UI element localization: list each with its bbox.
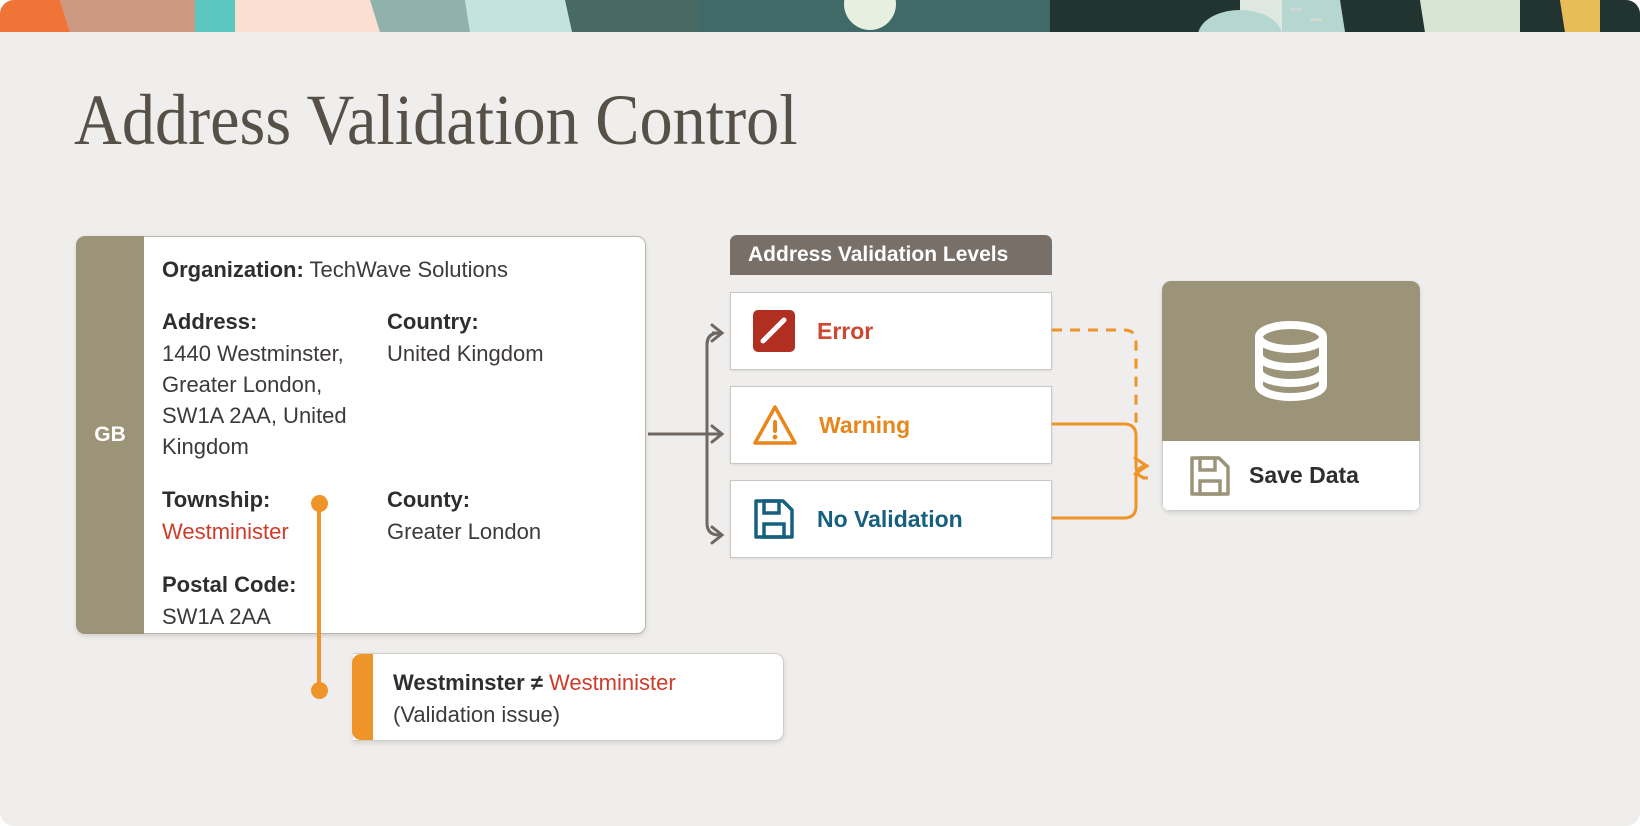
postal-code-field: Postal Code: SW1A 2AA [162,569,623,632]
validation-level-warning[interactable]: Warning [730,386,1052,464]
callout-actual: Westminister [549,670,676,695]
annotation-dot-bottom [311,682,328,699]
township-value: Westminister [162,516,387,547]
address-field: Address: 1440 Westminster, Greater Londo… [162,306,387,462]
validation-level-label: Error [817,318,873,345]
save-data-card[interactable]: Save Data [1162,281,1420,511]
postal-code-value: SW1A 2AA [162,601,623,632]
callout-accent-bar [352,654,373,740]
postal-code-label: Postal Code: [162,569,623,601]
township-label: Township: [162,484,387,516]
township-field: Township: Westminister [162,484,387,547]
address-card-body: Organization: TechWave Solutions Address… [144,236,646,634]
annotation-dot-top [311,495,328,512]
country-label: Country: [387,306,623,338]
county-value: Greater London [387,516,623,547]
page-title: Address Validation Control [74,72,798,168]
address-value: 1440 Westminster, Greater London, SW1A 2… [162,338,387,462]
organization-label: Organization: [162,257,304,282]
country-value: United Kingdom [387,338,623,369]
annotation-line [317,503,321,691]
validation-level-error[interactable]: Error [730,292,1052,370]
save-card-footer[interactable]: Save Data [1162,441,1420,511]
callout-expected: Westminster [393,670,525,695]
floppy-disk-icon [753,498,795,540]
callout-text: Westminster ≠ Westminister (Validation i… [373,654,676,740]
county-label: County: [387,484,623,516]
error-slash-icon [753,310,795,352]
organization-row: Organization: TechWave Solutions [162,255,623,285]
database-icon [1245,315,1337,407]
validation-issue-callout: Westminster ≠ Westminister (Validation i… [353,653,784,741]
country-field: Country: United Kingdom [387,306,623,462]
address-label: Address: [162,306,387,338]
validation-level-no-validation[interactable]: No Validation [730,480,1052,558]
save-data-label: Save Data [1249,462,1359,489]
slide-canvas: Address Validation Control GB O [0,0,1640,826]
warning-triangle-icon [753,404,797,446]
validation-level-label: Warning [819,412,910,439]
save-card-header [1162,281,1420,441]
floppy-disk-icon [1189,455,1231,497]
validation-level-label: No Validation [817,506,963,533]
validation-levels-header: Address Validation Levels [730,235,1052,275]
county-field: County: Greater London [387,484,623,547]
callout-operator: ≠ [531,670,543,695]
address-card[interactable]: GB Organization: TechWave Solutions Addr… [76,236,646,634]
organization-value: TechWave Solutions [310,257,509,282]
decorative-banner [0,0,1640,32]
country-flag-badge: GB [76,236,144,634]
callout-note: (Validation issue) [393,699,676,731]
